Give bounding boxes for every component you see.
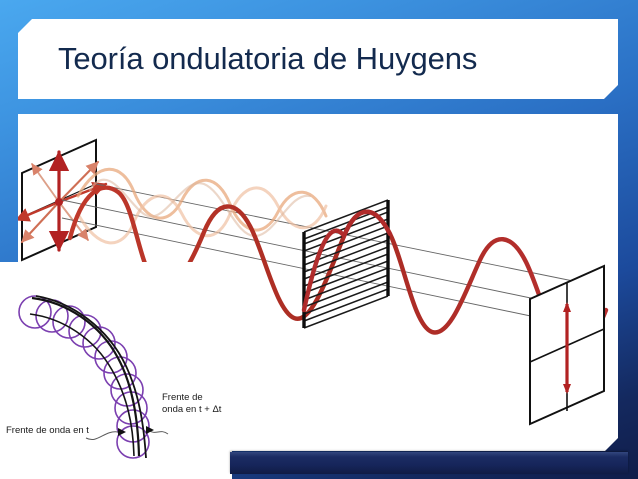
polarized-light-screen (530, 266, 604, 424)
leader-arrow-tdt (146, 426, 154, 434)
page-title: Teoría ondulatoria de Huygens (58, 41, 477, 77)
huygens-wavefront-construction (0, 262, 232, 479)
title-banner: Teoría ondulatoria de Huygens (18, 19, 618, 99)
label-wavefront-t-plus-dt-line1: Frente de (162, 392, 221, 404)
label-wavefront-t-plus-dt: Frente de onda en t + Δt (162, 392, 221, 416)
label-leader-lines (86, 430, 168, 440)
slide-canvas: Teoría ondulatoria de Huygens (0, 0, 638, 479)
footer-bar (230, 452, 628, 474)
label-wavefront-t-plus-dt-line2: onda en t + Δt (162, 404, 221, 416)
huygens-wavefront-inset (0, 262, 232, 479)
label-wavefront-t: Frente de onda en t (6, 425, 89, 437)
